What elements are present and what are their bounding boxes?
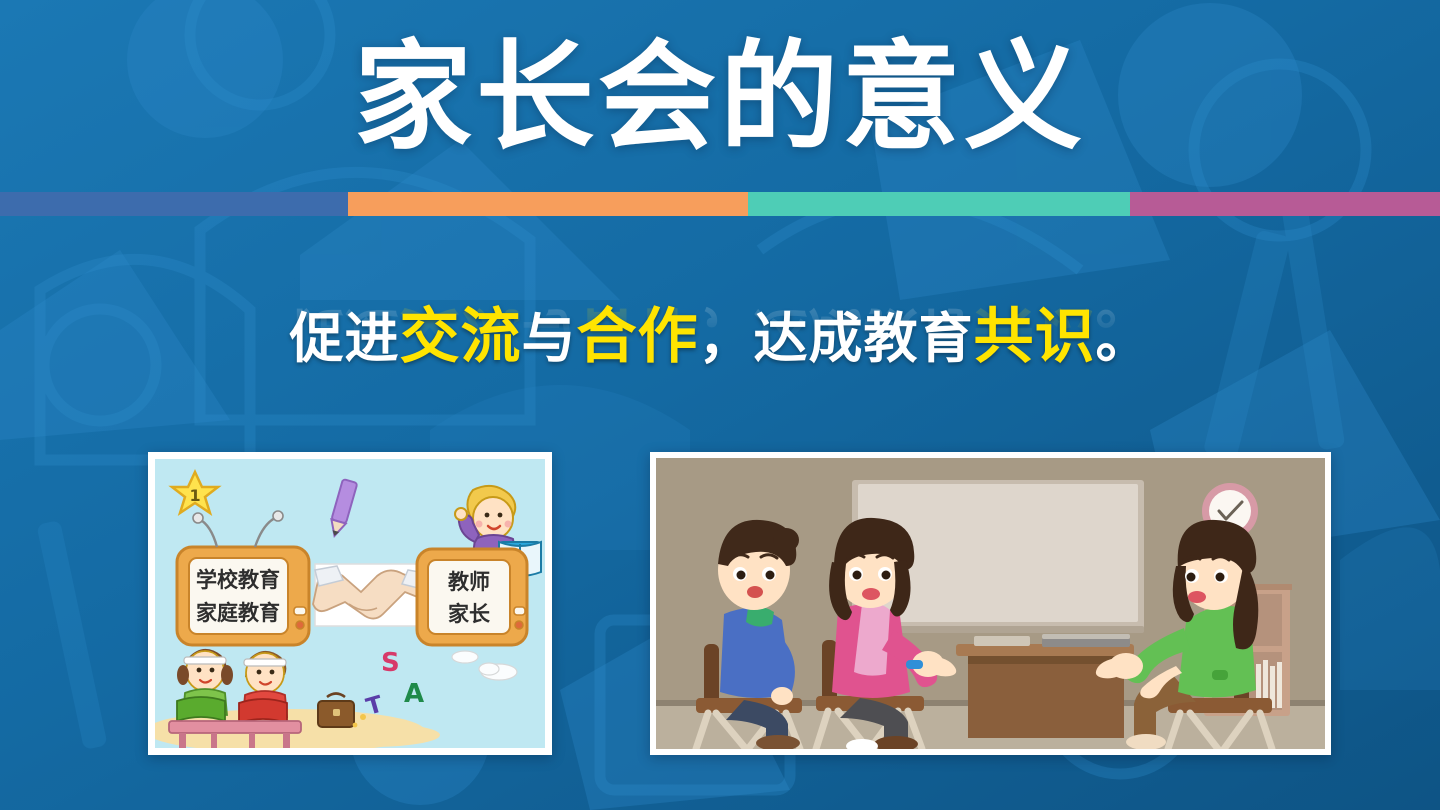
image-right-inner — [656, 458, 1325, 749]
reflect-part-2: 与 — [522, 301, 577, 364]
bar-segment-teal — [748, 192, 1130, 216]
reflect-part-5: 达成教育 — [754, 301, 974, 364]
subtitle-container: 促进交流与合作，达成教育共识。 促进交流与合作，达成教育共识。 — [0, 300, 1440, 446]
label-teacher: 教师 — [448, 570, 490, 594]
reflect-part-0: 促进 — [290, 301, 400, 364]
bar-segment-magenta — [1130, 192, 1440, 216]
image-home-school-cooperation[interactable]: 1 — [148, 452, 552, 755]
label-school-education: 学校教育 — [196, 568, 280, 592]
reflect-part-7: 。 — [1096, 301, 1151, 364]
presentation-slide: 家长会的意义 促进交流与合作，达成教育共识。 促进交流与合作，达成教育共识。 — [0, 0, 1440, 810]
reflect-part-6: 共识 — [974, 299, 1096, 369]
decor-letter-a: A — [404, 679, 424, 709]
image-left-inner: 1 — [155, 459, 545, 748]
reflect-part-4: ， — [699, 301, 754, 364]
label-family-education: 家庭教育 — [196, 601, 280, 625]
image-parent-teacher-meeting[interactable] — [650, 452, 1331, 755]
label-parent: 家长 — [448, 602, 491, 626]
slide-title-container: 家长会的意义 — [0, 28, 1440, 167]
bar-segment-orange — [348, 192, 748, 216]
page-title: 家长会的意义 — [354, 28, 1086, 167]
subtitle-reflection: 促进交流与合作，达成教育共识。 — [290, 296, 1151, 371]
reflect-part-1: 交流 — [400, 299, 522, 369]
decor-letter-s: S — [381, 648, 400, 678]
svg-text:1: 1 — [189, 486, 200, 505]
divider-color-bar — [0, 192, 1440, 216]
reflect-part-3: 合作 — [577, 299, 699, 369]
bar-segment-slate-blue — [0, 192, 348, 216]
